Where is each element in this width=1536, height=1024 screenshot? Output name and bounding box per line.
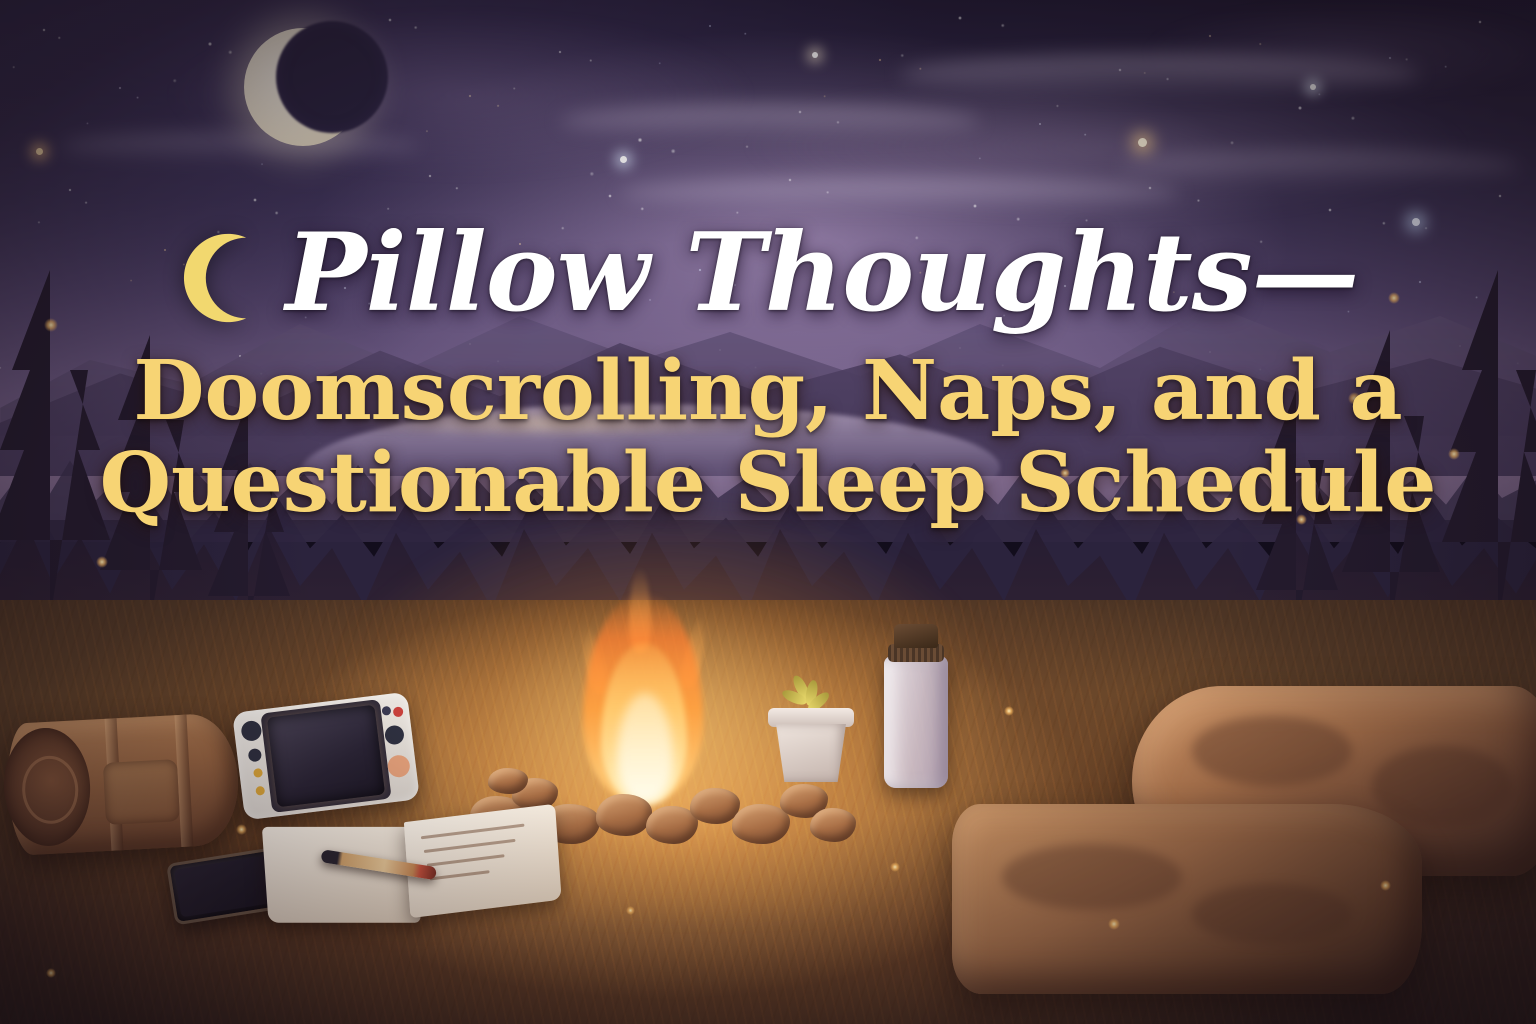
firefly-light: [890, 862, 900, 872]
bedroll-coil: [1, 726, 93, 848]
subtitle-line-2: Questionable Sleep Schedule: [0, 438, 1536, 530]
fire-stone: [596, 794, 652, 836]
firefly-light: [1380, 880, 1391, 891]
crescent-moon-icon: [177, 230, 269, 322]
moon-shadow: [276, 21, 388, 133]
sleeping-pad: [952, 804, 1422, 994]
title-overlay: Pillow Thoughts— Doomscrolling, Naps, an…: [0, 218, 1536, 530]
page-subtitle: Doomscrolling, Naps, and a Questionable …: [0, 346, 1536, 530]
handwriting-line: [424, 839, 516, 853]
cloud-band: [900, 54, 1420, 94]
potted-plant: [772, 708, 850, 784]
title-row: Pillow Thoughts—: [0, 218, 1536, 328]
camo-patch: [1192, 884, 1352, 944]
pot-body: [776, 724, 846, 782]
console-home-button: [387, 754, 412, 779]
open-notebook: [262, 808, 558, 926]
console-button: [253, 768, 263, 778]
console-button: [248, 748, 262, 762]
bottle-cap: [894, 624, 938, 648]
console-screen: [267, 705, 385, 807]
console-left-joystick: [240, 720, 262, 742]
firefly-light: [1108, 918, 1120, 930]
page-title: Pillow Thoughts—: [285, 218, 1358, 328]
fire-stone: [810, 808, 856, 842]
cloud-band: [620, 178, 1180, 208]
banner-image: Pillow Thoughts— Doomscrolling, Naps, an…: [0, 0, 1536, 1024]
firefly-light: [46, 968, 56, 978]
cloud-band: [560, 104, 980, 138]
camo-patch: [1192, 716, 1352, 786]
notebook-left-page: [262, 827, 421, 923]
console-button: [381, 706, 391, 716]
fire-stone: [732, 804, 790, 844]
rolled-bedroll: [5, 712, 242, 856]
handwriting-line: [427, 854, 505, 867]
bedroll-pocket: [103, 759, 180, 825]
camo-patch: [1002, 844, 1182, 910]
firefly-light: [96, 556, 108, 568]
fire-stone: [488, 768, 528, 794]
bottle-body: [884, 656, 948, 788]
console-right-joystick: [384, 724, 405, 745]
unrolled-sleeping-bag: [952, 686, 1536, 1016]
water-bottle: [884, 622, 948, 788]
console-button: [393, 706, 404, 717]
console-button: [255, 786, 265, 796]
camo-patch: [1372, 746, 1512, 826]
firefly-light: [626, 906, 635, 915]
handwriting-line: [421, 824, 525, 840]
firefly-light: [236, 824, 247, 835]
subtitle-line-1: Doomscrolling, Naps, and a: [133, 343, 1402, 439]
handheld-game-console: [232, 692, 420, 821]
firefly-light: [1004, 706, 1014, 716]
notebook-right-page: [404, 804, 562, 918]
handwriting-line: [430, 870, 490, 880]
